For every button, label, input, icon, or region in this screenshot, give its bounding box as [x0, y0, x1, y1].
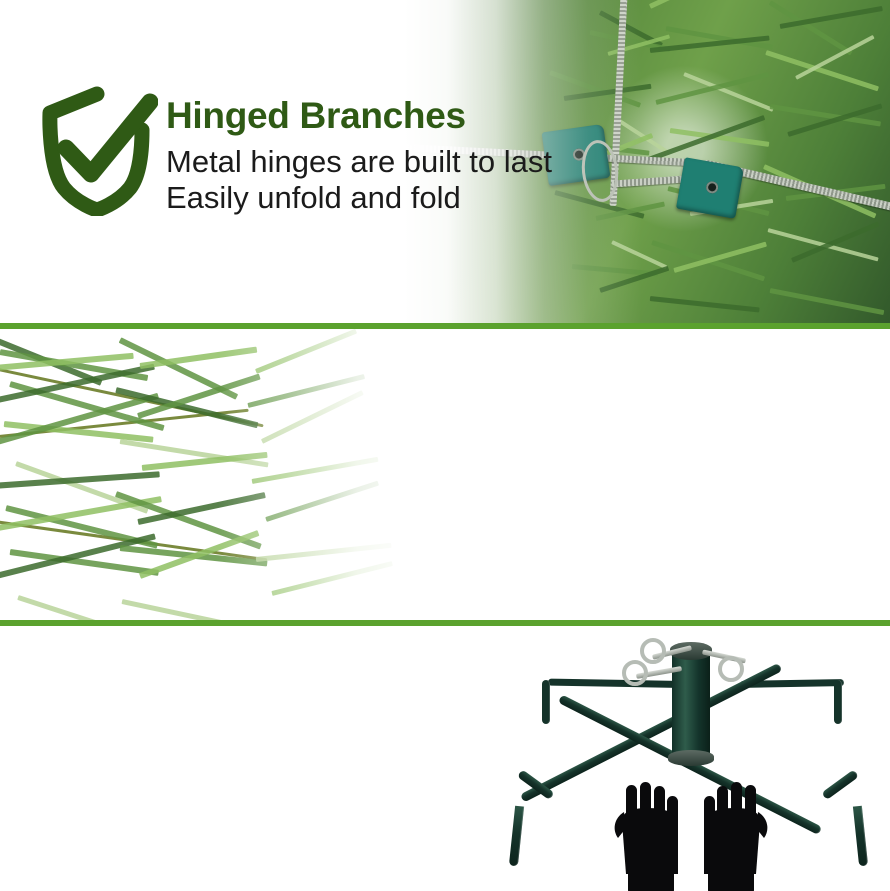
stand-thumbscrew-right: [718, 656, 744, 682]
photo-metal-tree-stand: [490, 634, 890, 891]
stand-thumbscrew-left: [622, 660, 648, 686]
stand-thumbscrew-top: [640, 638, 666, 664]
stand-leg-back-left-foot: [542, 680, 550, 724]
panel-sturdy-metal-base: Sturdy Metal Base Metal stand can suppor…: [0, 626, 890, 891]
product-feature-infographic: Hinged Branches Metal hinges are built t…: [0, 0, 890, 891]
panel-environmental-safe-material: Environmental Safe Material Non-flammabl…: [0, 329, 890, 620]
photo-tree-branches: [0, 329, 420, 620]
stand-foot-right: [853, 806, 868, 867]
stand-leg-back-right-foot: [834, 680, 842, 724]
branch-photo-fade: [0, 329, 420, 620]
hinged-branches-body: Metal hinges are built to last Easily un…: [166, 144, 552, 216]
stand-foot-left: [509, 806, 524, 867]
shield-check-icon: [36, 86, 158, 216]
panel-hinged-branches: Hinged Branches Metal hinges are built t…: [0, 0, 890, 323]
stand-foot-right-curve: [821, 769, 859, 800]
stand-post-base: [668, 750, 714, 766]
hinged-branches-heading: Hinged Branches: [166, 96, 466, 135]
glove-right: [696, 782, 772, 891]
glove-left: [610, 782, 686, 891]
